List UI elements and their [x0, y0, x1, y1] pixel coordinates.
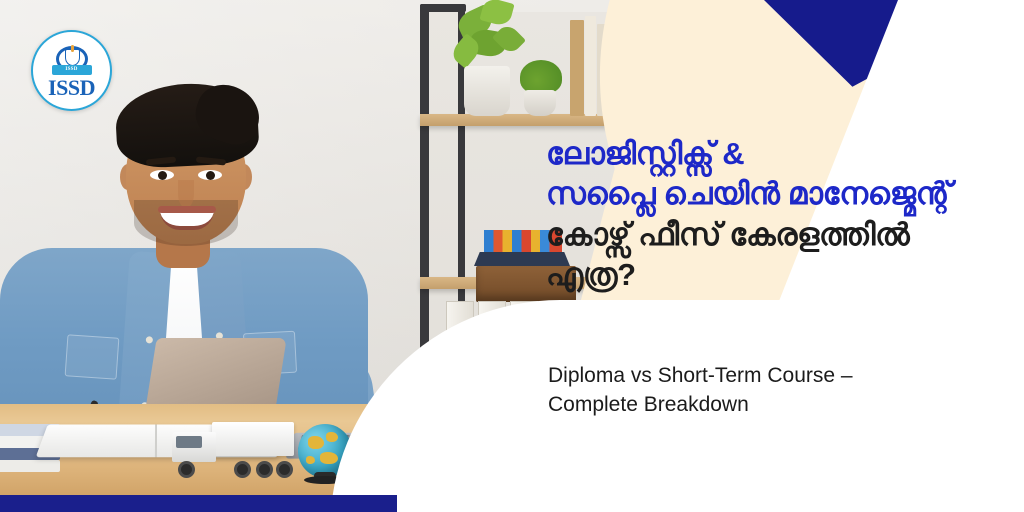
- headline-line-4: എത്ര?: [546, 255, 1016, 295]
- academic-crest-icon: ISSD: [52, 46, 92, 76]
- headline-line-2: സപ്ലൈ ചെയിൻ മാനേജ്മെന്റ്: [546, 174, 1016, 214]
- headline-line-3: കോഴ്സ് ഫീസ് കേരളത്തിൽ: [546, 215, 1016, 255]
- subtitle-line-1: Diploma vs Short-Term Course –: [548, 362, 1008, 391]
- logo-wordmark: ISSD: [48, 77, 95, 99]
- shirt-pocket: [65, 334, 120, 380]
- logo-ribbon: ISSD: [52, 65, 92, 75]
- logo-ribbon-label: ISSD: [65, 67, 77, 72]
- subtitle-line-2: Complete Breakdown: [548, 391, 1008, 420]
- issd-logo[interactable]: ISSD ISSD: [31, 30, 112, 111]
- nose: [178, 180, 194, 208]
- subtitle-block: Diploma vs Short-Term Course – Complete …: [548, 362, 1008, 420]
- eye: [150, 170, 174, 180]
- toy-truck: [172, 420, 294, 478]
- promo-banner: SUPPLY CHAIN WAREHOUSING LOGISTICS: [0, 0, 1024, 512]
- headline-block: ലോജിസ്റ്റിക്സ് & സപ്ലൈ ചെയിൻ മാനേജ്മെന്റ…: [546, 134, 1016, 295]
- shelf-post: [420, 4, 466, 12]
- eye: [198, 170, 222, 180]
- upper-lip: [158, 206, 216, 213]
- headline-line-1: ലോജിസ്റ്റിക്സ് &: [546, 134, 1016, 174]
- bottom-navy-bar: [0, 495, 397, 512]
